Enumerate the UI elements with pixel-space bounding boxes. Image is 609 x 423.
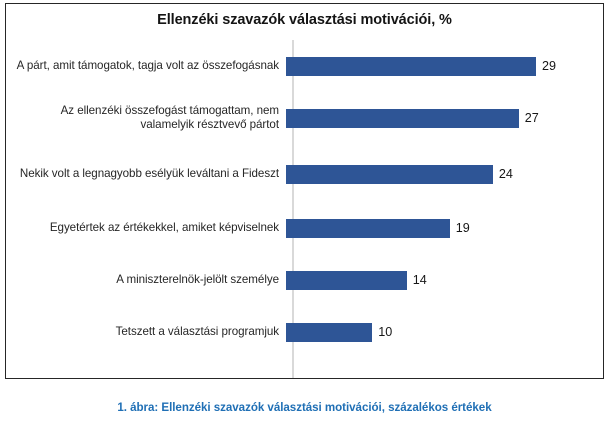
bar-row: Tetszett a választási programjuk 10: [6, 306, 603, 358]
chart-frame: Ellenzéki szavazók választási motivációi…: [5, 3, 604, 379]
bar-track: 29: [286, 40, 603, 92]
bar-track: 24: [286, 148, 603, 200]
bar-row: Egyetértek az értékekkel, amiket képvise…: [6, 202, 603, 254]
bar[interactable]: [286, 109, 519, 128]
category-label: A miniszterelnök-jelölt személye: [6, 273, 286, 288]
plot-area: A párt, amit támogatok, tagja volt az ös…: [6, 40, 603, 378]
category-label: Egyetértek az értékekkel, amiket képvise…: [6, 221, 286, 236]
bar-row: A párt, amit támogatok, tagja volt az ös…: [6, 40, 603, 92]
bar-value-label: 19: [450, 221, 470, 235]
bar-row: Az ellenzéki összefogást támogattam, nem…: [6, 92, 603, 144]
bar-value-label: 24: [493, 167, 513, 181]
bar-value-label: 27: [519, 111, 539, 125]
bar-track: 14: [286, 254, 603, 306]
bar-value-label: 10: [372, 325, 392, 339]
bar-row: Nekik volt a legnagyobb esélyük leváltan…: [6, 148, 603, 200]
category-label: Nekik volt a legnagyobb esélyük leváltan…: [6, 167, 286, 182]
category-label: A párt, amit támogatok, tagja volt az ös…: [6, 59, 286, 74]
bar-value-label: 29: [536, 59, 556, 73]
bar[interactable]: [286, 219, 450, 238]
figure-container: Ellenzéki szavazók választási motivációi…: [0, 0, 609, 423]
bar-track: 27: [286, 92, 603, 144]
category-label: Tetszett a választási programjuk: [6, 325, 286, 340]
bar[interactable]: [286, 271, 407, 290]
figure-caption: 1. ábra: Ellenzéki szavazók választási m…: [0, 401, 609, 414]
bar-row: A miniszterelnök-jelölt személye 14: [6, 254, 603, 306]
bar[interactable]: [286, 323, 372, 342]
category-label: Az ellenzéki összefogást támogattam, nem…: [6, 104, 286, 133]
bar[interactable]: [286, 57, 536, 76]
bar-track: 10: [286, 306, 603, 358]
bar-track: 19: [286, 202, 603, 254]
chart-title: Ellenzéki szavazók választási motivációi…: [6, 12, 603, 28]
bar[interactable]: [286, 165, 493, 184]
bar-value-label: 14: [407, 273, 427, 287]
